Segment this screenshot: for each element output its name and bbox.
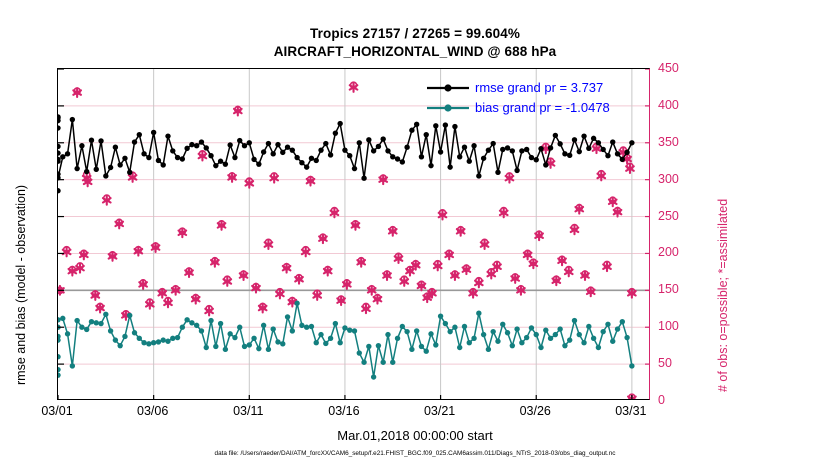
legend-bias-label: bias grand pr = -1.0478: [475, 98, 610, 118]
y-tick-right-100: 100: [658, 319, 679, 333]
y-tick-right-350: 350: [658, 135, 679, 149]
y-tick-right-450: 450: [658, 61, 679, 75]
y-tick-right-50: 50: [658, 356, 672, 370]
chart-canvas: [58, 69, 649, 399]
y-tick-right-200: 200: [658, 245, 679, 259]
y-tick-right-250: 250: [658, 209, 679, 223]
x-tick-03-31: 03/31: [615, 404, 646, 418]
y-tick-right-150: 150: [658, 282, 679, 296]
legend-bias-swatch: [425, 101, 471, 115]
x-tick-03-06: 03/06: [137, 404, 168, 418]
y-tick-right-300: 300: [658, 172, 679, 186]
legend-item-rmse[interactable]: rmse grand pr = 3.737: [425, 78, 647, 98]
y-tick-right-0: 0: [658, 393, 665, 407]
y-axis-right-label: # of obs: o=possible; *=assimilated: [716, 199, 730, 392]
legend-rmse-swatch: [425, 81, 471, 95]
legend-item-bias[interactable]: bias grand pr = -1.0478: [425, 98, 647, 118]
x-tick-03-11: 03/11: [233, 404, 263, 418]
x-tick-03-01: 03/01: [41, 404, 72, 418]
data-file-caption: data file: /Users/raeder/DAI/ATM_forcXX/…: [0, 450, 830, 457]
chart-title-line1: Tropics 27157 / 27265 = 99.604%: [0, 26, 830, 41]
y-tick-right-400: 400: [658, 98, 679, 112]
x-tick-03-16: 03/16: [328, 404, 359, 418]
chart-title-line2: AIRCRAFT_HORIZONTAL_WIND @ 688 hPa: [0, 44, 830, 59]
x-tick-03-26: 03/26: [520, 404, 551, 418]
x-tick-03-21: 03/21: [424, 404, 455, 418]
legend-rmse-label: rmse grand pr = 3.737: [475, 78, 603, 98]
y-axis-left-label: rmse and bias (model - observation): [14, 185, 28, 385]
x-axis-caption: Mar.01,2018 00:00:00 start: [0, 428, 830, 443]
chart-legend: rmse grand pr = 3.737 bias grand pr = -1…: [425, 78, 647, 118]
